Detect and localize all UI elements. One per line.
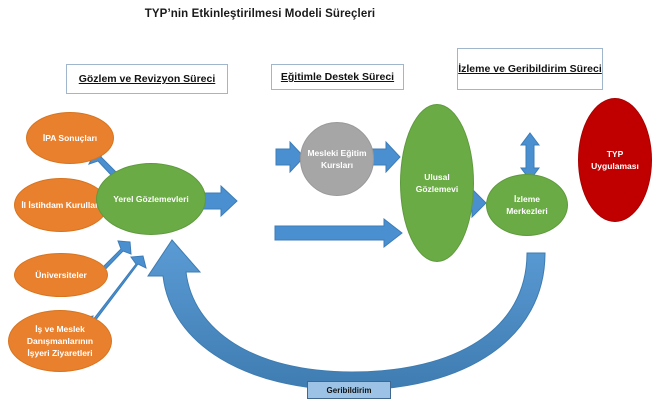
node-label-il: İl İstihdam Kurulları <box>15 199 106 211</box>
node-label-ulusal: Ulusal Gözlemevi <box>401 171 473 195</box>
feedback-box: Geribildirim <box>307 381 391 399</box>
phase-label-izleme: İzleme ve Geribildirim Süreci <box>458 62 602 76</box>
node-label-danismanlar: İş ve Meslek Danışmanlarının İşyeri Ziya… <box>9 323 111 359</box>
node-label-ipa: İPA Sonuçları <box>37 132 103 144</box>
node-label-yerel: Yerel Gözlemevleri <box>107 193 195 205</box>
page-title: TYP’nin Etkinleştirilmesi Modeli Süreçle… <box>110 8 410 20</box>
node-il-istihdam-kurullari: İl İstihdam Kurulları <box>14 178 108 232</box>
node-ipa-sonuclari: İPA Sonuçları <box>26 112 114 164</box>
arrow-feedback-curve <box>148 240 545 390</box>
phase-box-izleme-ve-geribildirim: İzleme ve Geribildirim Süreci <box>457 48 603 90</box>
arrow-long-to-ulusal <box>275 219 402 247</box>
arrow-mesleki-ulusal <box>372 142 400 172</box>
node-label-izleme-merkezleri: İzleme Merkezleri <box>487 193 567 217</box>
node-universiteler: Üniversiteler <box>14 253 108 297</box>
node-mesleki-egitim-kurslari: Mesleki Eğitim Kursları <box>300 122 374 196</box>
node-label-mesleki: Mesleki Eğitim Kursları <box>301 147 373 171</box>
node-yerel-gozlemevleri: Yerel Gözlemevleri <box>96 163 206 235</box>
phase-label-egitim: Eğitimle Destek Süreci <box>281 70 394 84</box>
node-label-universiteler: Üniversiteler <box>29 269 93 281</box>
arrow-yerel-right <box>203 186 237 216</box>
feedback-label: Geribildirim <box>327 386 372 395</box>
phase-label-gozlem: Gözlem ve Revizyon Süreci <box>79 72 216 86</box>
node-izleme-merkezleri: İzleme Merkezleri <box>486 174 568 236</box>
phase-box-gozlem-ve-revizyon: Gözlem ve Revizyon Süreci <box>66 64 228 94</box>
node-typ-uygulamasi: TYP Uygulaması <box>578 98 652 222</box>
node-ulusal-gozlemevi: Ulusal Gözlemevi <box>400 104 474 262</box>
node-label-typ: TYP Uygulaması <box>579 148 651 172</box>
phase-box-egitimle-destek: Eğitimle Destek Süreci <box>271 64 404 90</box>
node-is-ve-meslek-danismanlari: İş ve Meslek Danışmanlarının İşyeri Ziya… <box>8 310 112 372</box>
arrow-typ-izleme-vertical <box>521 133 539 180</box>
